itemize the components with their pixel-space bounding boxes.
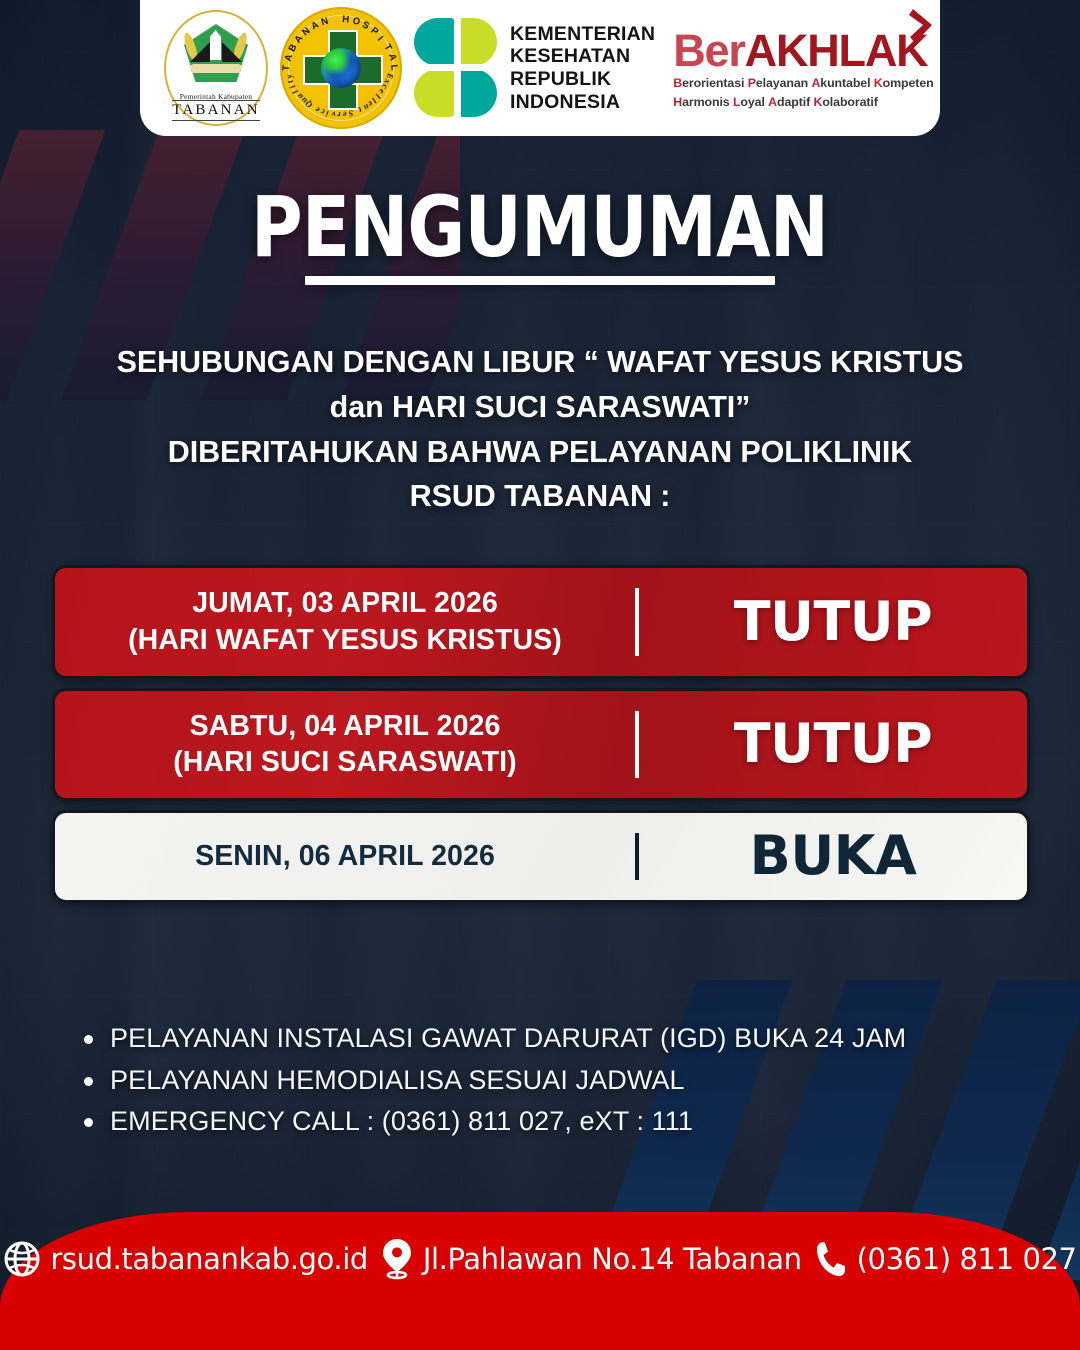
footer-website-text: rsud.tabanankab.go.id	[50, 1242, 368, 1276]
title-underline	[305, 276, 775, 285]
footer-phone-item[interactable]: (0361) 811 027	[814, 1240, 1077, 1278]
schedule-date: JUMAT, 03 APRIL 2026	[192, 586, 498, 621]
berakhlak-tagline-line1: Berorientasi Pelayanan Akuntabel Kompete…	[673, 76, 933, 92]
schedule-date-cell: SENIN, 06 APRIL 2026	[55, 813, 635, 900]
schedule-status-cell: BUKA	[639, 813, 1027, 900]
location-pin-icon	[380, 1238, 414, 1280]
kemenkes-line-3: REPUBLIK	[510, 68, 655, 91]
schedule-row: SENIN, 06 APRIL 2026 BUKA	[52, 810, 1030, 903]
berakhlak-word-part2: AKHLAK	[745, 25, 928, 76]
footer-phone-text: (0361) 811 027	[857, 1242, 1077, 1276]
schedule-date: SABTU, 04 APRIL 2026	[190, 709, 501, 744]
kemenkes-petal-mark-icon	[414, 16, 498, 120]
phone-icon	[814, 1240, 848, 1278]
schedule-table: JUMAT, 03 APRIL 2026 (HARI WAFAT YESUS K…	[52, 565, 1030, 903]
kemenkes-line-4: INDONESIA	[510, 91, 655, 114]
berakhlak-logo: BerAKHLAK Berorientasi Pelayanan Akuntab…	[665, 26, 937, 111]
schedule-row: SABTU, 04 APRIL 2026 (HARI SUCI SARASWAT…	[52, 688, 1030, 802]
schedule-row: JUMAT, 03 APRIL 2026 (HARI WAFAT YESUS K…	[52, 565, 1030, 679]
footer-address-text: Jl.Pahlawan No.14 Tabanan	[423, 1242, 802, 1276]
status-badge: BUKA	[750, 829, 917, 883]
globe-icon	[3, 1240, 41, 1278]
schedule-date-detail: (HARI WAFAT YESUS KRISTUS)	[128, 623, 562, 658]
announcement-poster: Pemerintah Kabupaten TABANAN TABANAN HOS…	[0, 0, 1080, 1350]
intro-line-3: DIBERITAHUKAN BAHWA PELAYANAN POLIKLINIK	[46, 430, 1034, 475]
chevron-right-icon	[908, 6, 938, 46]
intro-line-2: dan HARI SUCI SARASWATI”	[46, 385, 1034, 430]
footer-website-item[interactable]: rsud.tabanankab.go.id	[3, 1240, 368, 1278]
schedule-status-cell: TUTUP	[639, 691, 1027, 799]
notes-list: PELAYANAN INSTALASI GAWAT DARURAT (IGD) …	[78, 1018, 978, 1143]
berakhlak-wordmark: BerAKHLAK	[673, 28, 933, 73]
footer-address-item: Jl.Pahlawan No.14 Tabanan	[380, 1238, 802, 1280]
intro-paragraph: SEHUBUNGAN DENGAN LIBUR “ WAFAT YESUS KR…	[0, 340, 1080, 519]
schedule-date-cell: JUMAT, 03 APRIL 2026 (HARI WAFAT YESUS K…	[55, 568, 635, 676]
berakhlak-tagline-line2: Harmonis Loyal Adaptif Kolaboratif	[673, 95, 933, 111]
tabanan-hospital-seal-icon: TABANAN HOSPITAL Excellent Service Quali…	[278, 5, 404, 131]
globe-icon	[321, 48, 361, 88]
kemenkes-wordmark: KEMENTERIAN KESEHATAN REPUBLIK INDONESIA	[510, 23, 655, 113]
kemenkes-logo: KEMENTERIAN KESEHATAN REPUBLIK INDONESIA	[410, 16, 659, 120]
list-item: EMERGENCY CALL : (0361) 811 027, eXT : 1…	[78, 1101, 978, 1143]
list-item: PELAYANAN HEMODIALISA SESUAI JADWAL	[78, 1060, 978, 1102]
status-badge: TUTUP	[734, 717, 932, 771]
footer-contact-bar: rsud.tabanankab.go.id Jl.Pahlawan No.14 …	[0, 1212, 1080, 1350]
intro-line-1: SEHUBUNGAN DENGAN LIBUR “ WAFAT YESUS KR…	[46, 340, 1034, 385]
emblem-caption-main: TABANAN	[172, 100, 260, 121]
schedule-status-cell: TUTUP	[639, 568, 1027, 676]
tabanan-regency-emblem-icon: Pemerintah Kabupaten TABANAN	[160, 6, 272, 130]
kemenkes-line-2: KESEHATAN	[510, 45, 655, 68]
status-badge: TUTUP	[734, 595, 932, 649]
schedule-date: SENIN, 06 APRIL 2026	[195, 839, 495, 874]
schedule-date-detail: (HARI SUCI SARASWATI)	[173, 745, 517, 780]
list-item: PELAYANAN INSTALASI GAWAT DARURAT (IGD) …	[78, 1018, 978, 1060]
schedule-date-cell: SABTU, 04 APRIL 2026 (HARI SUCI SARASWAT…	[55, 691, 635, 799]
intro-line-4: RSUD TABANAN :	[46, 474, 1034, 519]
page-title-block: PENGUMUMAN	[0, 186, 1080, 285]
kemenkes-line-1: KEMENTERIAN	[510, 23, 655, 46]
berakhlak-word-part1: Ber	[673, 25, 744, 76]
page-title: PENGUMUMAN	[251, 186, 828, 268]
footer-contact-items: rsud.tabanankab.go.id Jl.Pahlawan No.14 …	[0, 1238, 1080, 1280]
header-logo-band: Pemerintah Kabupaten TABANAN TABANAN HOS…	[140, 0, 940, 136]
